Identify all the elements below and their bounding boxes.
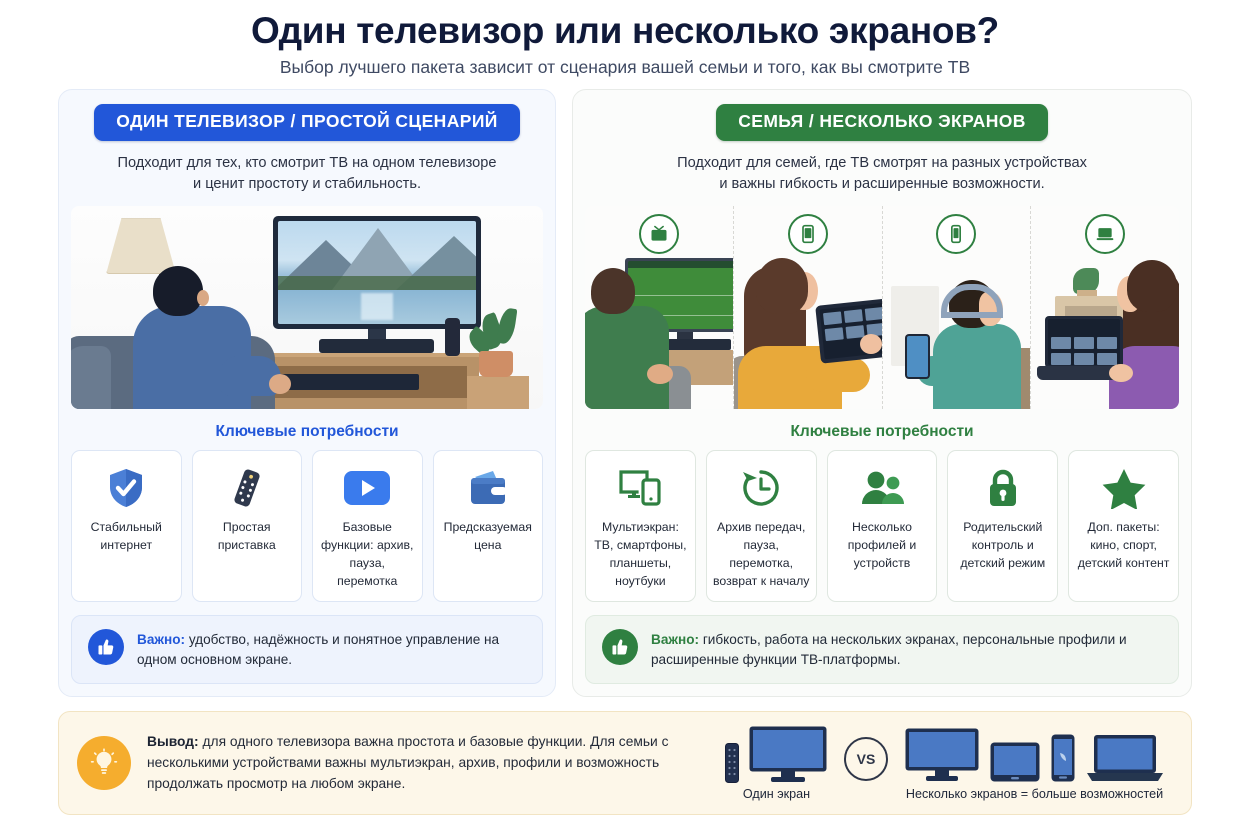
- father-head: [591, 268, 635, 314]
- shield-check-icon: [107, 465, 145, 511]
- thumbnail: [1097, 353, 1117, 365]
- multi-screen-devices: [904, 725, 1165, 783]
- scene-laptop-viewer: [1030, 206, 1179, 409]
- laptop-icon: [1085, 733, 1165, 783]
- thumbnail-row: [1051, 353, 1117, 365]
- multi-screen-caption: Несколько экранов = больше возможностей: [906, 787, 1163, 801]
- single-screen-caption: Один экран: [743, 787, 810, 801]
- smartphone-device: [905, 334, 930, 379]
- panel-badge-row: СЕМЬЯ / НЕСКОЛЬКО ЭКРАНОВ: [585, 104, 1179, 141]
- need-card-label: Стабильный интернет: [78, 519, 175, 555]
- thumbnail: [864, 307, 881, 321]
- need-card-label: Архив передач, пауза, перемотка, возврат…: [713, 519, 810, 590]
- infographic-page: Один телевизор или несколько экранов? Вы…: [0, 0, 1250, 833]
- need-card-basic-functions[interactable]: Базовые функции: архив, пауза, перемотка: [312, 450, 423, 601]
- need-card-parental-control[interactable]: Родительский контроль и детский режим: [947, 450, 1058, 601]
- need-card-label: Доп. пакеты: кино, спорт, детский контен…: [1075, 519, 1172, 572]
- need-card-extra-packages[interactable]: Доп. пакеты: кино, спорт, детский контен…: [1068, 450, 1179, 601]
- thumbnail: [1051, 337, 1071, 349]
- need-card-simple-set-top-box[interactable]: Простая приставка: [192, 450, 303, 601]
- headphones-icon: [941, 284, 1003, 318]
- need-card-label: Базовые функции: архив, пауза, перемотка: [319, 519, 416, 590]
- tablet-icon: [989, 741, 1041, 783]
- panel-lead-family: Подходит для семей, где ТВ смотрят на ра…: [589, 153, 1175, 194]
- play-button-icon: [343, 465, 391, 511]
- mother-arm: [806, 358, 870, 392]
- tv-monitor-icon: [904, 727, 980, 783]
- smartphone-icon: [936, 214, 976, 254]
- smartphone-icon: [1050, 733, 1076, 783]
- need-card-label: Несколько профилей и устройств: [834, 519, 931, 572]
- need-card-label: Мультиэкран: ТВ, смартфоны, планшеты, но…: [592, 519, 689, 590]
- side-table: [467, 376, 529, 409]
- thumbnail: [844, 309, 863, 323]
- need-card-stable-internet[interactable]: Стабильный интернет: [71, 450, 182, 601]
- conclusion-keyword: Вывод:: [147, 734, 199, 749]
- soundbar: [319, 339, 434, 353]
- conclusion-bar: Вывод: для одного телевизора важна прост…: [58, 711, 1192, 815]
- broadcast-overlay: [628, 261, 733, 268]
- thumbs-up-icon: [88, 629, 124, 665]
- thumbnail: [824, 328, 843, 342]
- panel-badge-single-tv: ОДИН ТЕЛЕВИЗОР / ПРОСТОЙ СЦЕНАРИЙ: [94, 104, 520, 141]
- scene-smartphone-viewer: [882, 206, 1031, 409]
- daughter-head: [1127, 260, 1177, 312]
- callout-keyword: Важно:: [651, 632, 699, 647]
- panel-family-multiscreen: СЕМЬЯ / НЕСКОЛЬКО ЭКРАНОВ Подходит для с…: [572, 89, 1192, 696]
- multiscreen-icon: [618, 465, 662, 511]
- wallet-icon: [467, 465, 509, 511]
- remote-control-icon: [228, 465, 266, 511]
- need-card-archive[interactable]: Архив передач, пауза, перемотка, возврат…: [706, 450, 817, 601]
- thumbnail-row: [823, 307, 882, 325]
- panel-lead-single-tv: Подходит для тех, кто смотрит ТВ на одно…: [75, 153, 539, 194]
- needs-title-single-tv: Ключевые потребности: [71, 423, 543, 441]
- pitch-line: [628, 295, 733, 296]
- laptop-device: [1045, 316, 1123, 368]
- page-subtitle: Выбор лучшего пакета зависит от сценария…: [40, 57, 1210, 79]
- plant-pot: [479, 351, 513, 377]
- thumbnail: [1097, 337, 1117, 349]
- remote-control-icon: [725, 743, 739, 783]
- laptop-icon: [1085, 214, 1125, 254]
- illustration-living-room: [71, 206, 543, 409]
- vs-badge: VS: [844, 737, 888, 781]
- panel-lead-line-2: и ценит простоту и стабильность.: [193, 176, 421, 192]
- page-title: Один телевизор или несколько экранов?: [40, 10, 1210, 51]
- laptop-screen: [1048, 319, 1120, 365]
- thumbnail: [1074, 337, 1094, 349]
- thumbnail-row: [1051, 337, 1117, 349]
- viewer-head: [153, 266, 203, 316]
- panel-lead-line-1: Подходит для семей, где ТВ смотрят на ра…: [677, 155, 1087, 171]
- need-card-multiscreen[interactable]: Мультиэкран: ТВ, смартфоны, планшеты, но…: [585, 450, 696, 601]
- callout-keyword: Важно:: [137, 632, 185, 647]
- callout-body: гибкость, работа на нескольких экранах, …: [651, 632, 1127, 667]
- needs-title-family: Ключевые потребности: [585, 423, 1179, 441]
- tv-stand: [368, 329, 386, 339]
- needs-cards-family: Мультиэкран: ТВ, смартфоны, планшеты, но…: [585, 450, 1179, 601]
- need-card-label: Родительский контроль и детский режим: [954, 519, 1051, 572]
- tablet-icon: [788, 214, 828, 254]
- multi-screen-group: Несколько экранов = больше возможностей: [904, 725, 1165, 801]
- tv-monitor-icon: [748, 725, 828, 783]
- panel-lead-line-1: Подходит для тех, кто смотрит ТВ на одно…: [118, 155, 497, 171]
- television: [273, 216, 481, 329]
- needs-cards-single-tv: Стабильный интернет: [71, 450, 543, 601]
- people-icon: [860, 465, 904, 511]
- callout-important-single-tv: Важно: удобство, надёжность и понятное у…: [71, 615, 543, 684]
- thumbnail: [1051, 353, 1071, 365]
- lake-reflection: [361, 293, 393, 320]
- need-card-label: Простая приставка: [199, 519, 296, 555]
- tv-screen-landscape: [278, 221, 476, 324]
- panel-lead-line-2: и важны гибкость и расширенные возможнос…: [719, 176, 1044, 192]
- tablet-device: [815, 299, 882, 364]
- panel-badge-row: ОДИН ТЕЛЕВИЗОР / ПРОСТОЙ СЦЕНАРИЙ: [71, 104, 543, 141]
- illustration-family-devices: [585, 206, 1179, 409]
- remote-control: [445, 318, 460, 356]
- panel-badge-family: СЕМЬЯ / НЕСКОЛЬКО ЭКРАНОВ: [716, 104, 1048, 141]
- callout-text: Важно: гибкость, работа на нескольких эк…: [651, 629, 1162, 670]
- conclusion-body: для одного телевизора важна простота и б…: [147, 734, 668, 792]
- single-screen-devices: [725, 725, 828, 783]
- comparison-panels: ОДИН ТЕЛЕВИЗОР / ПРОСТОЙ СЦЕНАРИЙ Подход…: [0, 79, 1250, 696]
- need-card-predictable-price[interactable]: Предсказуемая цена: [433, 450, 544, 601]
- smartphone-screen: [907, 336, 928, 377]
- thumbnail: [823, 312, 842, 326]
- thumbnail: [1074, 353, 1094, 365]
- callout-body: удобство, надёжность и понятное управлен…: [137, 632, 499, 667]
- star-icon: [1102, 465, 1146, 511]
- mother-hand: [860, 334, 882, 354]
- header: Один телевизор или несколько экранов? Вы…: [0, 0, 1250, 79]
- mother-head: [756, 258, 808, 314]
- callout-important-family: Важно: гибкость, работа на нескольких эк…: [585, 615, 1179, 684]
- thumbs-up-icon: [602, 629, 638, 665]
- callout-text: Важно: удобство, надёжность и понятное у…: [137, 629, 526, 670]
- need-card-label: Предсказуемая цена: [440, 519, 537, 555]
- scene-tv-viewer: [585, 206, 733, 409]
- history-clock-icon: [740, 465, 782, 511]
- single-screen-group: Один экран: [725, 725, 828, 801]
- need-card-profiles[interactable]: Несколько профилей и устройств: [827, 450, 938, 601]
- lock-icon: [984, 465, 1022, 511]
- conclusion-text: Вывод: для одного телевизора важна прост…: [147, 731, 682, 795]
- father-body: [585, 306, 669, 409]
- panel-single-tv: ОДИН ТЕЛЕВИЗОР / ПРОСТОЙ СЦЕНАРИЙ Подход…: [58, 89, 556, 696]
- sofa-armrest: [71, 346, 111, 409]
- device-comparison: Один экран VS: [698, 725, 1173, 801]
- tv-icon: [639, 214, 679, 254]
- scene-tablet-viewer: [733, 206, 882, 409]
- lightbulb-icon: [77, 736, 131, 790]
